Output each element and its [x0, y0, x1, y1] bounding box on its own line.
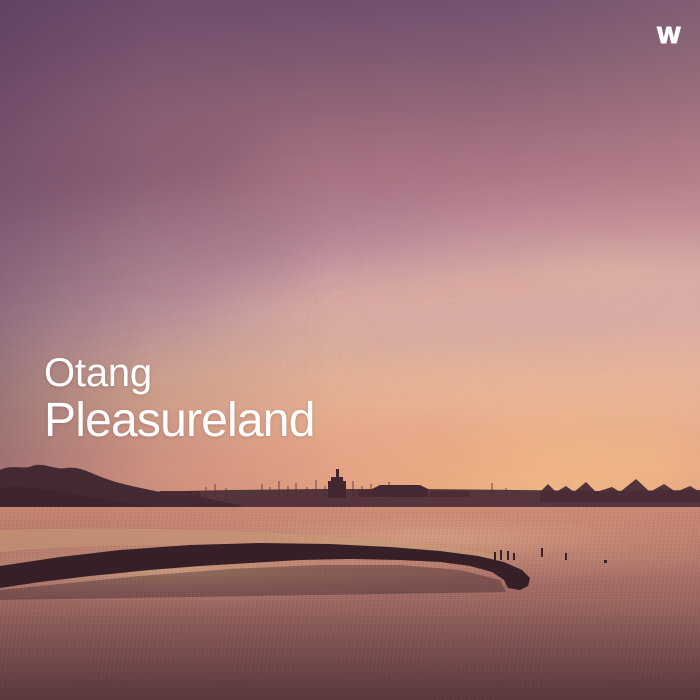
bottom-vignette [0, 600, 700, 700]
artist-name: Otang [44, 351, 315, 395]
album-artwork: Otang Pleasureland [0, 0, 700, 700]
w-glyph [657, 27, 682, 44]
title-block: Otang Pleasureland [44, 351, 315, 447]
w-monogram-logo[interactable] [654, 20, 684, 50]
jetty-posts [494, 548, 607, 563]
album-title: Pleasureland [44, 395, 315, 447]
jetty-group [0, 0, 700, 700]
